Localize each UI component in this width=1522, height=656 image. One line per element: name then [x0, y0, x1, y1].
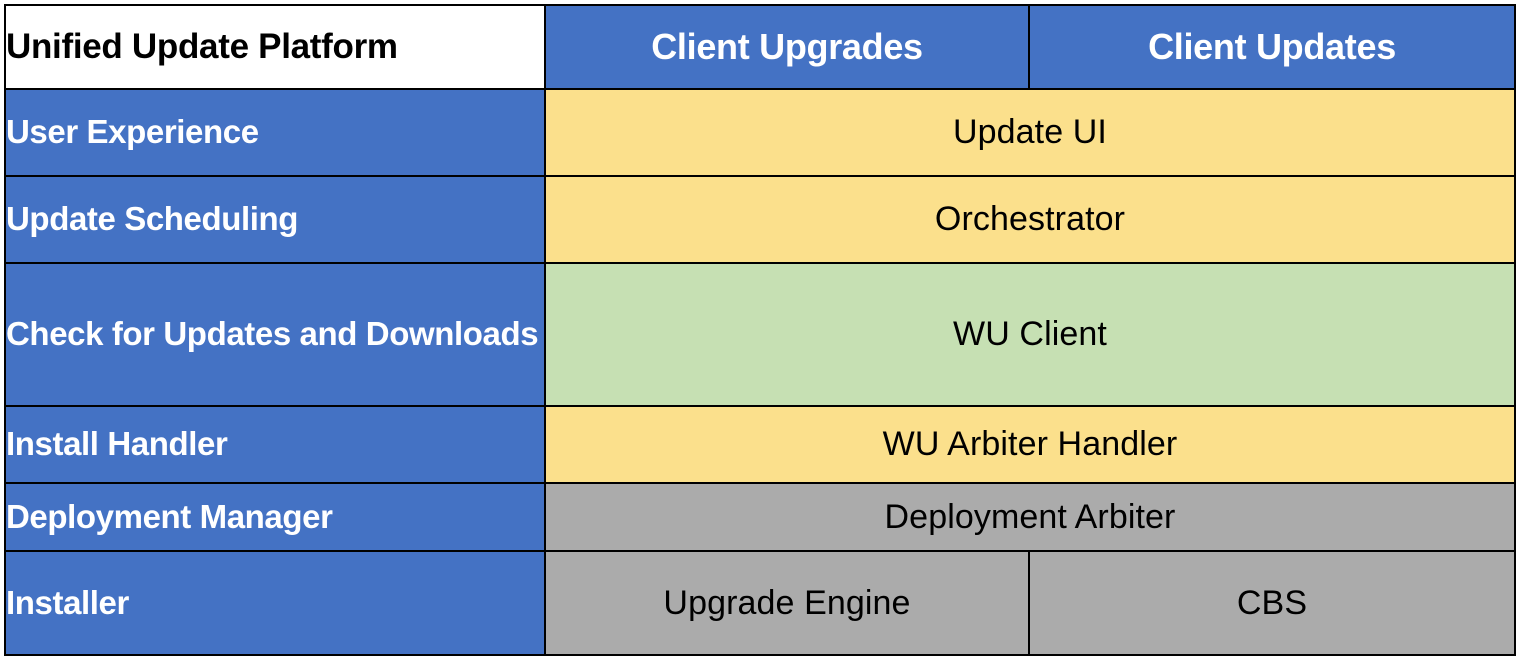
table-row: Install Handler WU Arbiter Handler	[5, 406, 1515, 483]
table-row: Installer Upgrade Engine CBS	[5, 551, 1515, 655]
column-header-client-upgrades: Client Upgrades	[545, 5, 1029, 89]
cell-update-ui: Update UI	[545, 89, 1515, 176]
row-label-update-scheduling: Update Scheduling	[5, 176, 545, 263]
table-row: User Experience Update UI	[5, 89, 1515, 176]
row-label-installer: Installer	[5, 551, 545, 655]
table-row: Update Scheduling Orchestrator	[5, 176, 1515, 263]
cell-cbs: CBS	[1029, 551, 1515, 655]
table-header-row: Unified Update Platform Client Upgrades …	[5, 5, 1515, 89]
column-header-client-updates: Client Updates	[1029, 5, 1515, 89]
cell-orchestrator: Orchestrator	[545, 176, 1515, 263]
cell-wu-client: WU Client	[545, 263, 1515, 406]
table-row: Deployment Manager Deployment Arbiter	[5, 483, 1515, 551]
unified-update-platform-table: Unified Update Platform Client Upgrades …	[4, 4, 1516, 656]
cell-wu-arbiter-handler: WU Arbiter Handler	[545, 406, 1515, 483]
row-label-deployment-manager: Deployment Manager	[5, 483, 545, 551]
cell-deployment-arbiter: Deployment Arbiter	[545, 483, 1515, 551]
row-label-user-experience: User Experience	[5, 89, 545, 176]
table-row: Check for Updates and Downloads WU Clien…	[5, 263, 1515, 406]
page-title: Unified Update Platform	[5, 5, 545, 89]
row-label-install-handler: Install Handler	[5, 406, 545, 483]
row-label-check-for-updates-and-downloads: Check for Updates and Downloads	[5, 263, 545, 406]
cell-upgrade-engine: Upgrade Engine	[545, 551, 1029, 655]
